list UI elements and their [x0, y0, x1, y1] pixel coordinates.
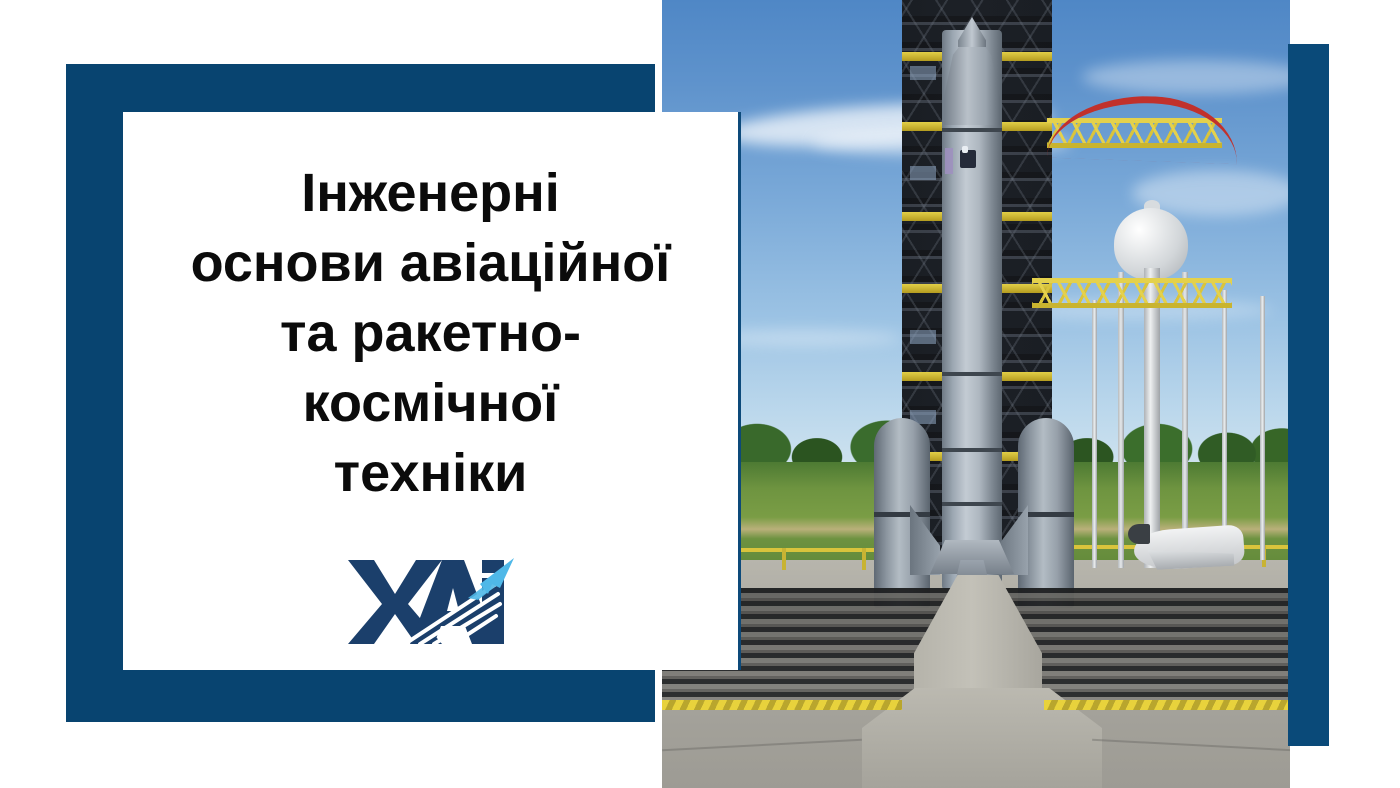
slide-canvas: Інженерні основи авіаційної та ракетно- … [0, 0, 1400, 788]
booster-band [874, 512, 930, 517]
rocket-decal [945, 148, 953, 174]
page-title: Інженерні основи авіаційної та ракетно- … [191, 158, 671, 508]
light-pole [1092, 300, 1097, 568]
xai-logo [346, 554, 516, 646]
railing-post [862, 548, 866, 570]
title-card: Інженерні основи авіаційної та ракетно- … [123, 112, 741, 670]
hazard-stripe [1044, 700, 1290, 710]
rocket-band [942, 128, 1002, 132]
water-tower-leg [1118, 272, 1124, 568]
tower-panel [910, 66, 936, 80]
water-tower-leg [1182, 272, 1188, 568]
water-tower-stem [1144, 268, 1160, 568]
tower-panel [910, 330, 936, 344]
rocket-band [942, 448, 1002, 452]
rocket-hatch [962, 146, 968, 153]
hazard-stripe [662, 700, 902, 710]
launch-pad-photo [662, 0, 1290, 788]
spaceplane-nose [1128, 524, 1150, 544]
xai-logo-mark [346, 554, 516, 646]
railing-post [782, 548, 786, 570]
rocket-band [942, 502, 1002, 506]
navy-frame-right [1288, 44, 1329, 746]
rocket-band [942, 372, 1002, 376]
lower-swing-arm [1032, 278, 1232, 308]
tower-panel [910, 166, 936, 180]
light-pole [1260, 296, 1265, 560]
light-pole [1222, 290, 1227, 562]
